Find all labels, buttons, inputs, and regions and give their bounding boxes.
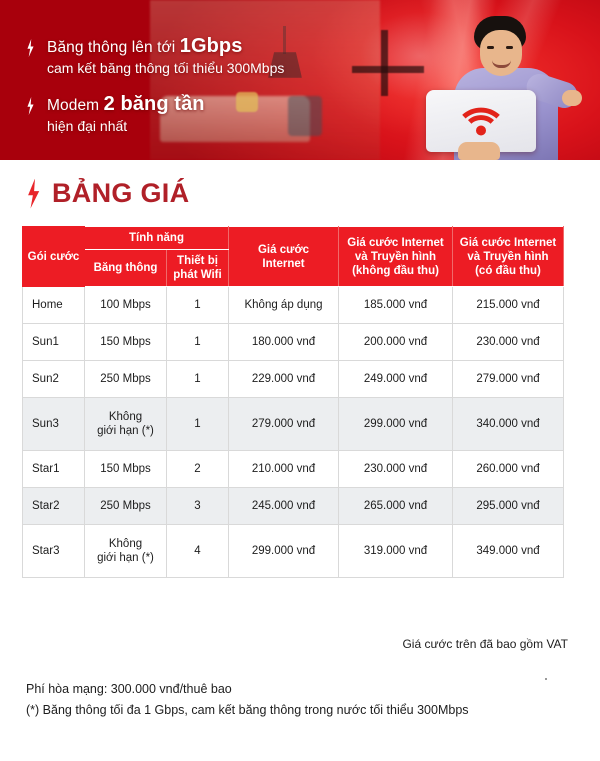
th-internet-price-l2: Internet [262,258,304,270]
cell-bandwidth: 250 Mbps [85,488,167,525]
cell-internet-price: 210.000 vnđ [229,451,339,488]
wifi-icon [460,105,502,137]
vat-note: Giá cước trên đã bao gồm VAT [402,637,568,651]
asterisk-note: (*) Băng thông tối đa 1 Gbps, cam kết bă… [26,700,469,721]
cell-tv-with-box: 260.000 vnđ [453,451,564,488]
cell-package: Sun3 [23,398,85,451]
th-tv-no-box-l2: và Truyền hình [355,251,436,263]
th-tv-with-box-l1: Giá cước Internet [460,237,556,249]
table-row: Star1150 Mbps2210.000 vnđ230.000 vnđ260.… [23,451,564,488]
cell-tv-no-box: 185.000 vnđ [339,287,453,324]
banner-bullet-item: Modem 2 băng tần hiện đại nhất [26,94,356,136]
lightning-bolt-icon [26,97,35,115]
cell-bandwidth: 250 Mbps [85,361,167,398]
th-tv-no-box: Giá cước Internet và Truyền hình (không … [339,227,453,287]
cell-tv-no-box: 230.000 vnđ [339,451,453,488]
table-row: Home100 Mbps1Không áp dụng185.000 vnđ215… [23,287,564,324]
person-eye-right [506,46,513,49]
cell-package: Star3 [23,525,85,578]
cell-tv-with-box: 215.000 vnđ [453,287,564,324]
banner-bullet-line1: Modem 2 băng tần [47,94,205,116]
banner-bullet-highlight: 2 băng tần [104,93,205,115]
cell-package: Star2 [23,488,85,525]
table-row: Sun3Khônggiới hạn (*)1279.000 vnđ299.000… [23,398,564,451]
banner-bullet-line2: cam kết băng thông tối thiểu 300Mbps [47,59,284,78]
cell-bandwidth-l2: giới hạn (*) [97,552,154,564]
cell-wifi-device: 1 [167,398,229,451]
section-title: BẢNG GIÁ [26,178,189,209]
promo-banner: Băng thông lên tới 1Gbps cam kết băng th… [0,0,600,160]
banner-bullet-prefix: Modem [47,97,104,114]
th-tv-with-box-l2: và Truyền hình [467,251,548,263]
th-wifi-device: Thiết bịphát Wifi [167,250,229,287]
cell-bandwidth: 100 Mbps [85,287,167,324]
person-holding-hand [458,142,500,160]
cell-tv-no-box: 299.000 vnđ [339,398,453,451]
table-row: Star3Khônggiới hạn (*)4299.000 vnđ319.00… [23,525,564,578]
person-pointing-hand [562,90,582,106]
pricing-table: Gói cước Tính năng Giá cước Internet Giá… [22,226,564,578]
banner-bullet-line1: Băng thông lên tới 1Gbps [47,36,284,58]
cell-tv-with-box: 230.000 vnđ [453,324,564,361]
th-tv-with-box-l3: (có đầu thu) [475,265,541,277]
cell-tv-no-box: 319.000 vnđ [339,525,453,578]
cell-wifi-device: 1 [167,361,229,398]
th-internet-price: Giá cước Internet [229,227,339,287]
cell-tv-with-box: 295.000 vnđ [453,488,564,525]
cell-bandwidth: Khônggiới hạn (*) [85,525,167,578]
cell-internet-price: 279.000 vnđ [229,398,339,451]
cell-bandwidth-l1: Không [109,411,142,423]
cell-wifi-device: 1 [167,324,229,361]
th-internet-price-l1: Giá cước [258,244,309,256]
cell-tv-no-box: 249.000 vnđ [339,361,453,398]
table-row: Sun2250 Mbps1229.000 vnđ249.000 vnđ279.0… [23,361,564,398]
cell-package: Sun2 [23,361,85,398]
cell-bandwidth: Khônggiới hạn (*) [85,398,167,451]
cell-internet-price: Không áp dụng [229,287,339,324]
banner-bullet-list: Băng thông lên tới 1Gbps cam kết băng th… [26,36,356,152]
banner-bullet-prefix: Băng thông lên tới [47,39,180,56]
table-head: Gói cước Tính năng Giá cước Internet Giá… [23,227,564,287]
th-bandwidth: Băng thông [85,250,167,287]
footnotes: Phí hòa mạng: 300.000 vnđ/thuê bao (*) B… [26,679,469,721]
cell-tv-no-box: 200.000 vnđ [339,324,453,361]
th-features-group: Tính năng [85,227,229,250]
th-tv-no-box-l1: Giá cước Internet [347,237,443,249]
cell-internet-price: 299.000 vnđ [229,525,339,578]
person-eye-left [487,46,494,49]
banner-bullet-item: Băng thông lên tới 1Gbps cam kết băng th… [26,36,356,78]
setup-fee-note: Phí hòa mạng: 300.000 vnđ/thuê bao [26,679,469,700]
banner-person [430,16,580,160]
cell-package: Star1 [23,451,85,488]
cell-wifi-device: 2 [167,451,229,488]
table-row: Sun1150 Mbps1180.000 vnđ200.000 vnđ230.0… [23,324,564,361]
cell-package: Sun1 [23,324,85,361]
cell-tv-no-box: 265.000 vnđ [339,488,453,525]
table-body: Home100 Mbps1Không áp dụng185.000 vnđ215… [23,287,564,578]
cell-wifi-device: 4 [167,525,229,578]
banner-bullet-highlight: 1Gbps [180,35,243,57]
cell-bandwidth: 150 Mbps [85,451,167,488]
table-header-row-1: Gói cước Tính năng Giá cước Internet Giá… [23,227,564,250]
cell-internet-price: 229.000 vnđ [229,361,339,398]
cell-tv-with-box: 349.000 vnđ [453,525,564,578]
cell-package: Home [23,287,85,324]
cell-tv-with-box: 279.000 vnđ [453,361,564,398]
cell-bandwidth-l1: Không [109,538,142,550]
artifact-speck [545,678,547,680]
banner-bullet-line2: hiện đại nhất [47,117,205,136]
cell-internet-price: 245.000 vnđ [229,488,339,525]
page-title: BẢNG GIÁ [52,178,189,209]
lightning-bolt-icon [26,179,41,209]
pricing-table-container: Gói cước Tính năng Giá cước Internet Giá… [22,226,563,578]
th-tv-no-box-l3: (không đầu thu) [352,265,439,277]
table-row: Star2250 Mbps3245.000 vnđ265.000 vnđ295.… [23,488,564,525]
cell-wifi-device: 3 [167,488,229,525]
lightning-bolt-icon [26,39,35,57]
cell-bandwidth-l2: giới hạn (*) [97,425,154,437]
person-face [480,30,522,76]
th-tv-with-box: Giá cước Internet và Truyền hình (có đầu… [453,227,564,287]
cell-internet-price: 180.000 vnđ [229,324,339,361]
cell-wifi-device: 1 [167,287,229,324]
th-package: Gói cước [23,227,85,287]
cell-bandwidth: 150 Mbps [85,324,167,361]
cell-tv-with-box: 340.000 vnđ [453,398,564,451]
